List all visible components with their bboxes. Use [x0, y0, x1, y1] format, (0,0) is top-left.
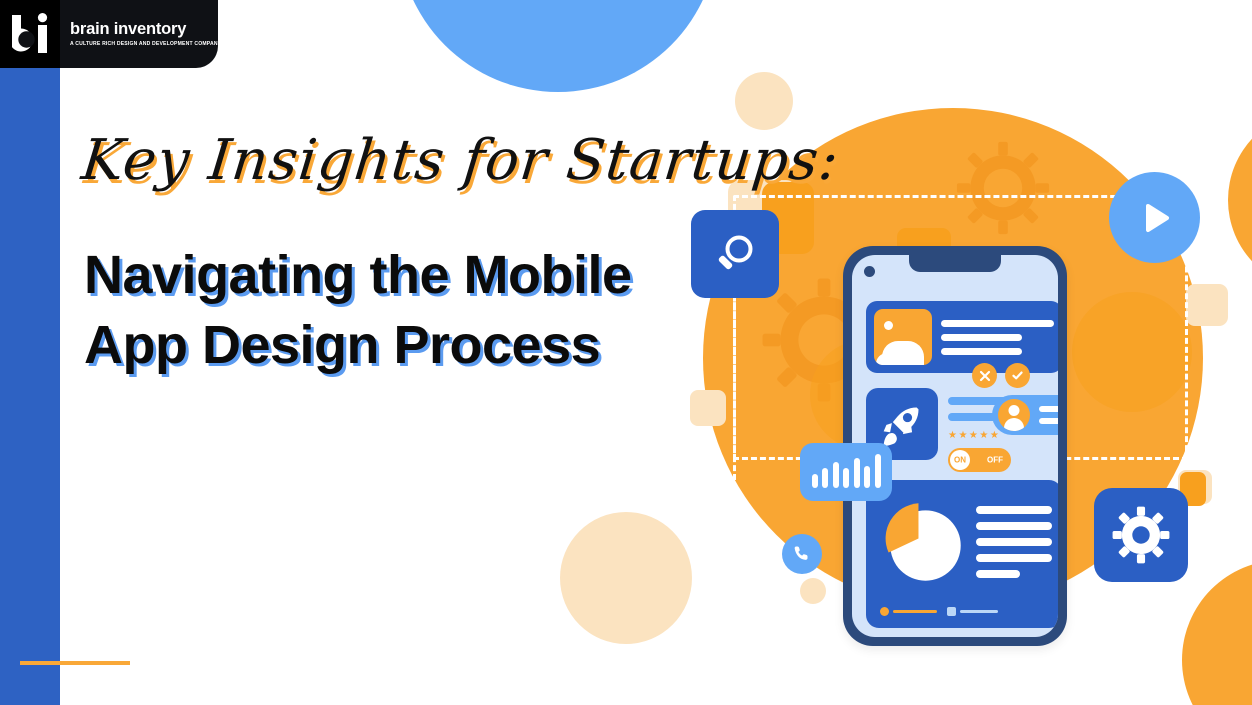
brand-logo-bar[interactable]: brain inventory A CULTURE RICH DESIGN AN… [0, 0, 218, 68]
check-badge-icon[interactable] [1005, 363, 1030, 388]
toggle-off-label: OFF [987, 456, 1003, 465]
slider-controls [880, 607, 998, 616]
decor-blue-circle-top [398, 0, 718, 92]
brand-logo-mark-icon [0, 0, 60, 68]
phone-call-icon[interactable] [782, 534, 822, 574]
pie-chart [878, 498, 966, 586]
hero-eyebrow: Key Insights for Startups: [79, 128, 843, 193]
orange-accent-rule [20, 661, 130, 665]
analytics-text-lines [976, 506, 1052, 578]
phone-camera-icon [864, 266, 875, 277]
decor-peach-circle-small [735, 72, 793, 130]
hero-title-line-2: App Design Process [84, 310, 724, 380]
hero-title: Navigating the Mobile App Design Process [84, 240, 724, 380]
brand-tagline: A CULTURE RICH DESIGN AND DEVELOPMENT CO… [70, 41, 221, 47]
decor-peach-square-3 [690, 390, 726, 426]
bar-chart-icon[interactable] [800, 443, 892, 501]
hero-title-line-1: Navigating the Mobile [84, 240, 724, 310]
analytics-card [866, 480, 1058, 628]
play-icon[interactable] [1109, 172, 1200, 263]
decor-orange-circle-lower-right [1182, 560, 1252, 705]
toggle-on-label: ON [954, 456, 966, 465]
on-off-toggle[interactable]: ON OFF [948, 448, 1011, 472]
search-icon[interactable] [691, 210, 779, 298]
image-placeholder-icon [874, 309, 932, 365]
gear-icon[interactable] [1094, 488, 1188, 582]
slider-blue[interactable] [947, 607, 998, 616]
decor-peach-circle-tiny [800, 578, 826, 604]
user-card-text-lines [1030, 406, 1058, 424]
brand-name: brain inventory [70, 21, 221, 38]
slide-canvas: brain inventory A CULTURE RICH DESIGN AN… [0, 0, 1252, 705]
slider-orange[interactable] [880, 607, 937, 616]
avatar [998, 399, 1030, 431]
decor-orange-circle-right [1228, 110, 1252, 290]
decor-peach-circle-big [560, 512, 692, 644]
left-blue-bar [0, 68, 60, 705]
media-card-text-lines [932, 320, 1054, 355]
close-badge-icon[interactable] [972, 363, 997, 388]
action-badges [972, 363, 1030, 388]
rating-stars: ★★★★★ [948, 431, 1000, 441]
decor-peach-square-2 [1186, 284, 1228, 326]
user-card [992, 395, 1058, 435]
phone-notch [909, 255, 1001, 272]
brand-logo-text: brain inventory A CULTURE RICH DESIGN AN… [60, 21, 221, 47]
